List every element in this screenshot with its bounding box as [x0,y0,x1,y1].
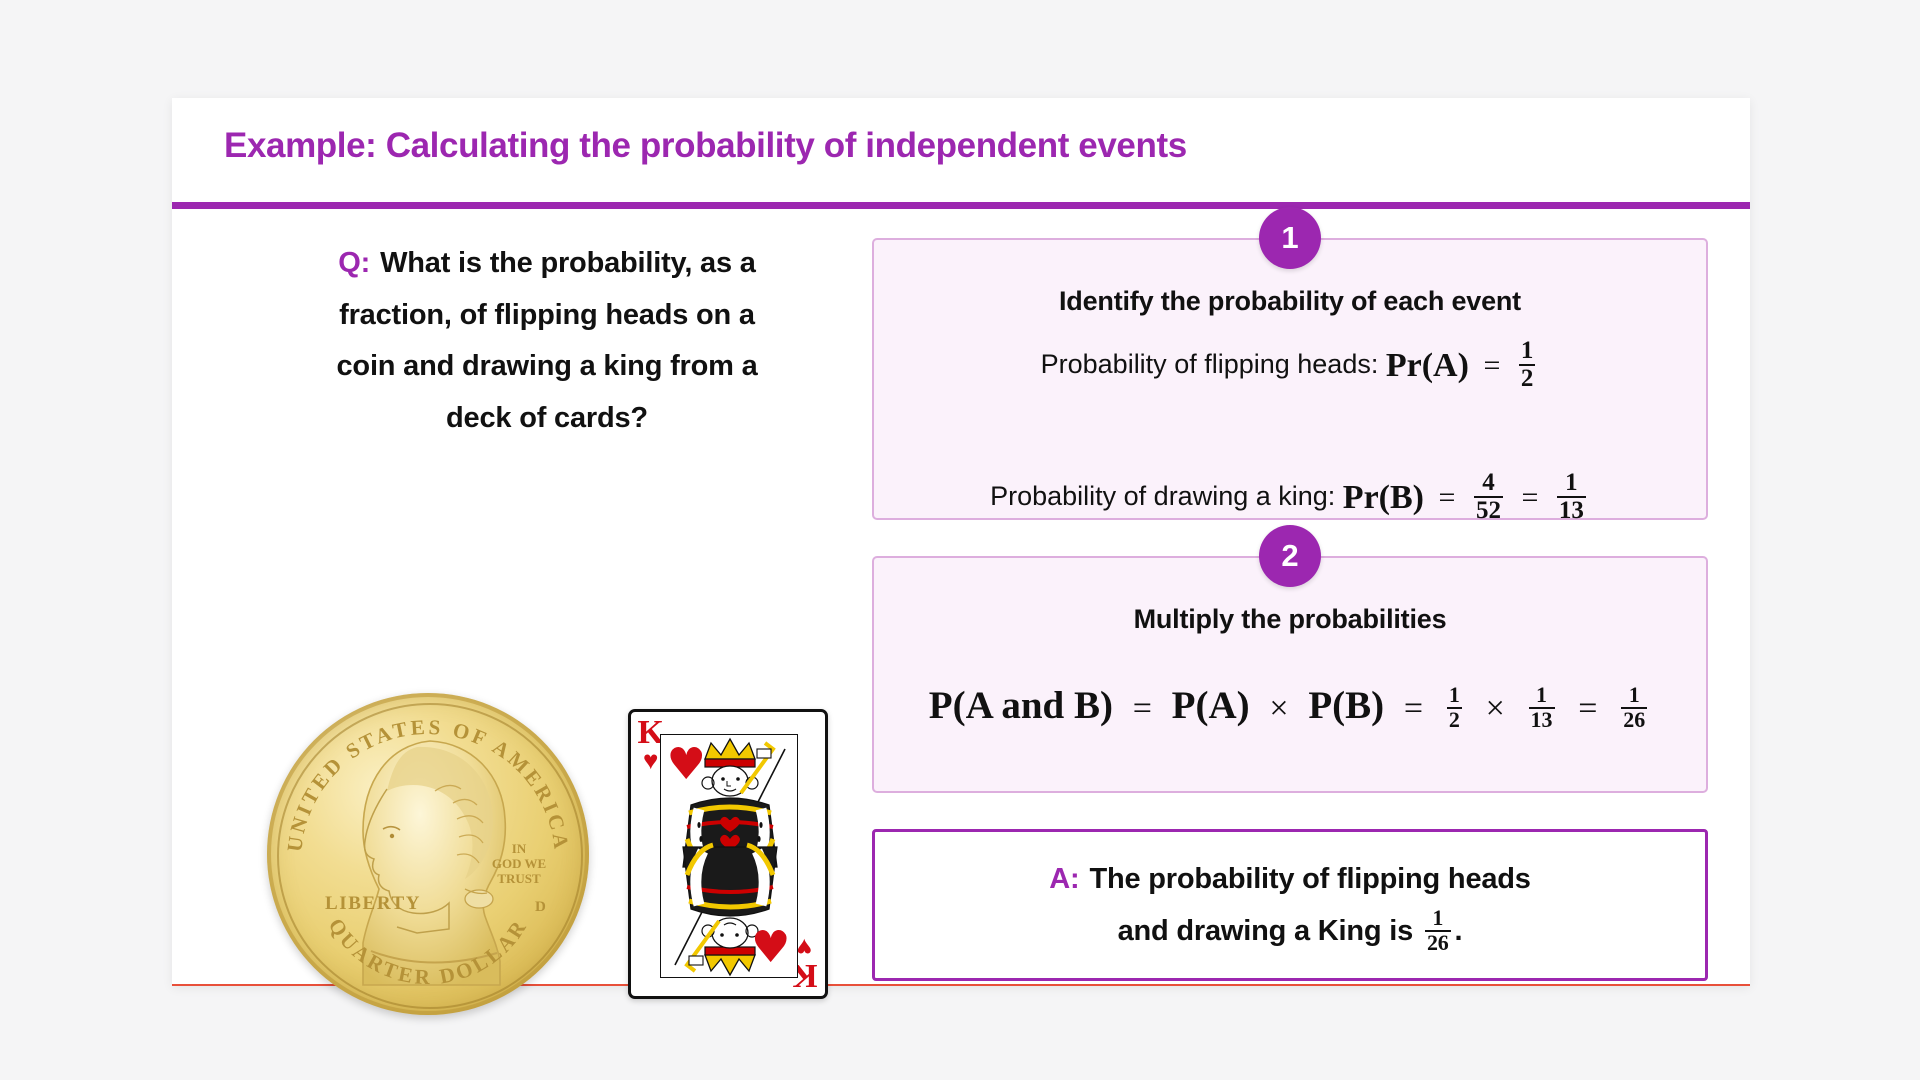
question-line-1: What is the probability, as a [380,247,756,279]
fraction-numerator: 4 [1474,470,1503,496]
right-column: 1 Identify the probability of each event… [872,238,1708,981]
formula-1-equals: = [1483,349,1500,382]
fraction-denominator: 52 [1474,496,1503,524]
answer-text: A:The probability of flipping heads and … [1023,853,1557,957]
heart-icon: ♥ [751,922,790,973]
question-line-2: fraction, of flipping heads on a [339,299,755,331]
fraction-denominator: 13 [1557,496,1586,524]
slide-card: Example: Calculating the probability of … [172,98,1750,986]
equation-equals-2: = [1404,690,1423,727]
playing-card-king-of-hearts: K ♥ K ♥ [628,709,828,999]
answer-marker: A: [1049,863,1079,895]
media-row: UNITED STATES OF AMERICA QUARTER DOLLAR … [222,693,872,1015]
fraction-denominator: 2 [1519,364,1536,392]
svg-text:GOD WE: GOD WE [491,856,545,871]
fraction-numerator: 1 [1529,684,1555,707]
equation-equals-1: = [1133,690,1152,727]
equation-term-1: P(A) [1172,684,1250,727]
heart-icon: ♥ [667,739,706,790]
fraction-numerator: 1 [1519,338,1536,364]
svg-text:D: D [535,899,546,915]
step-2-badge: 2 [1259,525,1321,587]
question-marker: Q: [338,247,370,279]
equation-term-2: P(B) [1308,684,1384,727]
fraction-denominator: 2 [1447,707,1462,732]
answer-box: A:The probability of flipping heads and … [872,829,1708,981]
step-1-formula-2: Probability of drawing a king: Pr(B) = 4… [874,471,1706,525]
title-divider [172,202,1750,209]
formula-1-label: Probability of flipping heads: [1041,349,1379,379]
fraction-denominator: 26 [1621,707,1647,732]
equation-lhs: P(A and B) [929,684,1113,727]
answer-fraction: 1 26 [1425,907,1451,955]
formula-2-fraction-2: 1 13 [1557,470,1586,524]
equation-result-fraction: 1 26 [1621,684,1647,732]
formula-2-expr: Pr(B) [1343,479,1424,516]
page-title: Example: Calculating the probability of … [224,126,1187,166]
svg-text:IN: IN [511,841,526,856]
formula-2-fraction-1: 4 52 [1474,470,1503,524]
equation-times-1: × [1269,690,1288,727]
left-column: Q:What is the probability, as a fraction… [222,238,872,444]
fraction-numerator: 1 [1621,684,1647,707]
step-1-box: 1 Identify the probability of each event… [872,238,1708,520]
formula-2-equals-2: = [1521,481,1538,514]
quarter-coin: UNITED STATES OF AMERICA QUARTER DOLLAR … [267,693,589,1015]
question-line-3: coin and drawing a king from a [337,350,758,382]
equation-equals-3: = [1578,690,1597,727]
equation-fraction-2: 1 13 [1529,684,1555,732]
equation-times-2: × [1486,690,1505,727]
fraction-denominator: 26 [1425,930,1451,955]
coin-detail-svg: UNITED STATES OF AMERICA QUARTER DOLLAR … [267,693,589,1015]
equation-fraction-1: 1 2 [1447,684,1462,732]
answer-period: . [1455,915,1463,947]
fraction-denominator: 13 [1529,707,1555,732]
answer-line-1: The probability of flipping heads [1089,863,1530,895]
card-face-art: ♥ ♥ [660,734,798,978]
svg-text:LIBERTY: LIBERTY [325,893,421,914]
formula-2-equals: = [1439,481,1456,514]
formula-2-label: Probability of drawing a king: [990,481,1335,511]
step-2-equation: P(A and B) = P(A) × P(B) = 1 2 × 1 13 [874,683,1706,733]
question-line-4: deck of cards? [446,402,648,434]
fraction-numerator: 1 [1557,470,1586,496]
answer-line-2-prefix: and drawing a King is [1118,915,1414,947]
formula-1-fraction: 1 2 [1519,338,1536,392]
slide-root: Example: Calculating the probability of … [0,0,1920,1080]
formula-1-expr: Pr(A) [1386,347,1469,384]
svg-text:TRUST: TRUST [497,871,541,886]
coin-image: UNITED STATES OF AMERICA QUARTER DOLLAR … [267,693,592,1015]
fraction-numerator: 1 [1447,684,1462,707]
step-1-formula-1: Probability of flipping heads: Pr(A) = 1… [874,339,1706,393]
step-1-badge: 1 [1259,207,1321,269]
question-block: Q:What is the probability, as a fraction… [222,238,872,444]
fraction-numerator: 1 [1425,907,1451,930]
step-2-box: 2 Multiply the probabilities P(A and B) … [872,556,1708,793]
